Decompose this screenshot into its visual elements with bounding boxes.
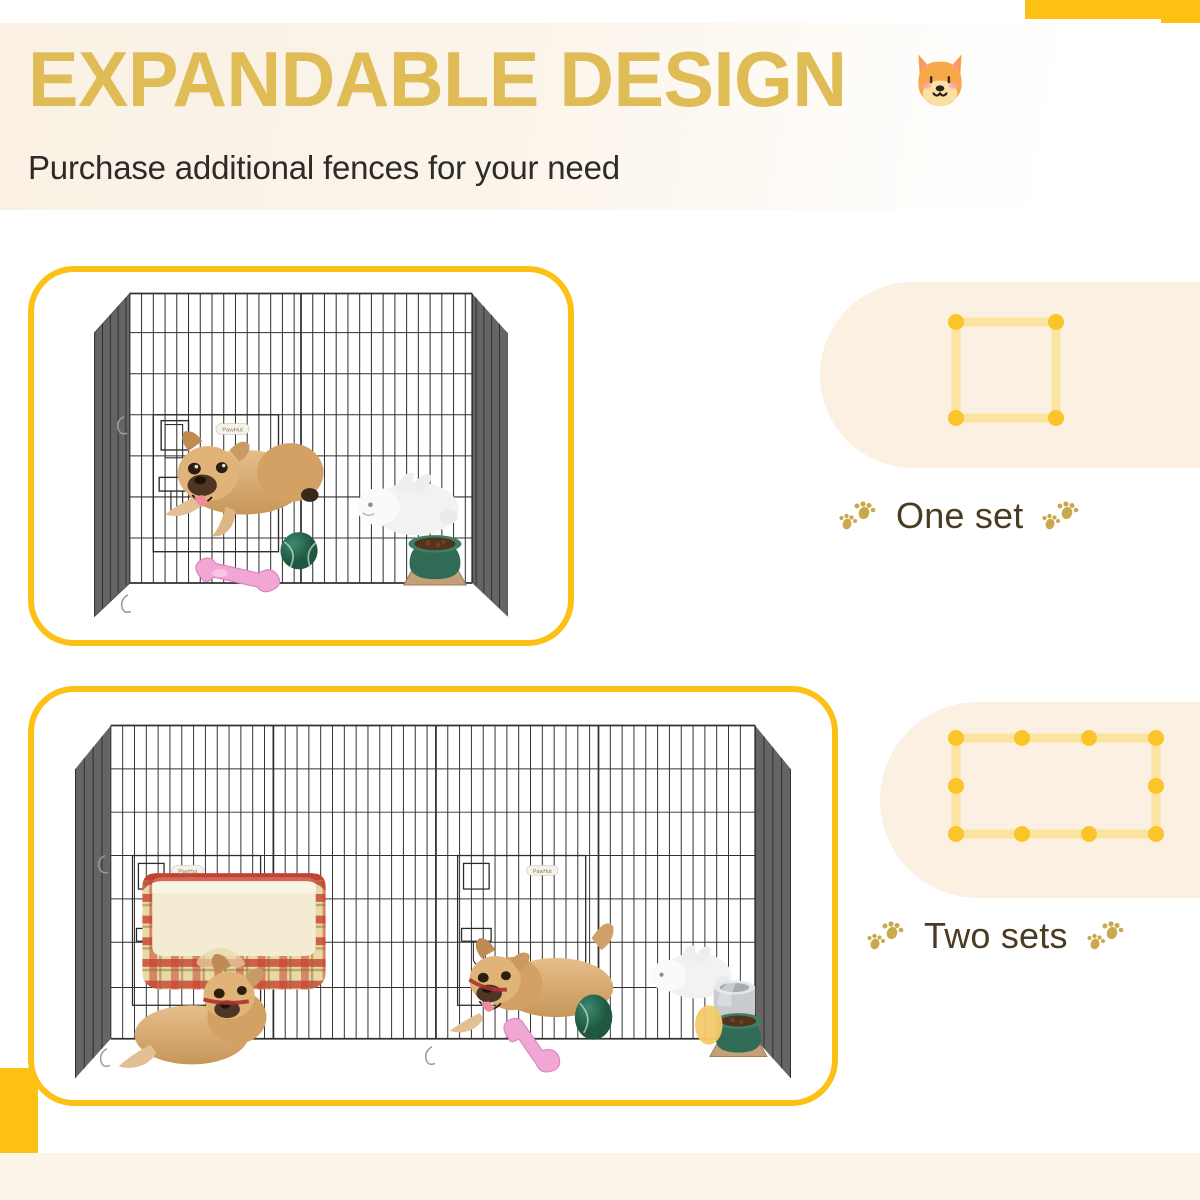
one-set-label-row: One set (838, 495, 1081, 537)
pet-bed (142, 873, 325, 989)
rabbit-illustration (357, 473, 459, 535)
paw-print-icon (838, 501, 878, 531)
dog-face-icon (904, 43, 976, 115)
one-set-label: One set (896, 495, 1023, 537)
double-set-playpen-card[interactable]: PawHut PawHut (28, 686, 838, 1106)
paw-print-icon (1086, 921, 1126, 951)
paw-print-icon (1041, 501, 1081, 531)
single-set-playpen-card[interactable]: PawHut (28, 266, 574, 646)
two-sets-label-row: Two sets (866, 915, 1126, 957)
playpen-photo-two: PawHut PawHut (34, 692, 832, 1106)
two-sets-diagram (940, 722, 1172, 850)
svg-text:PawHut: PawHut (222, 427, 243, 433)
ball-toy (280, 532, 317, 569)
title-row: EXPANDABLE DESIGN (28, 23, 1168, 135)
bone-toy (504, 1018, 560, 1072)
ball-toy (575, 994, 612, 1039)
bottom-cream-strip (0, 1153, 1200, 1200)
page-title: EXPANDABLE DESIGN (28, 40, 847, 118)
paw-print-icon (866, 921, 906, 951)
svg-text:PawHut: PawHut (533, 869, 552, 875)
one-set-diagram (940, 306, 1072, 434)
two-sets-label: Two sets (924, 915, 1068, 957)
playpen-photo-one: PawHut (34, 272, 568, 644)
page-subtitle: Purchase additional fences for your need (28, 149, 1168, 187)
brand-badge: PawHut (216, 424, 249, 435)
yellow-toy (695, 1005, 723, 1044)
bone-toy (196, 558, 280, 592)
header: EXPANDABLE DESIGN Purchase additional fe… (28, 23, 1168, 210)
food-bowl (404, 535, 467, 585)
